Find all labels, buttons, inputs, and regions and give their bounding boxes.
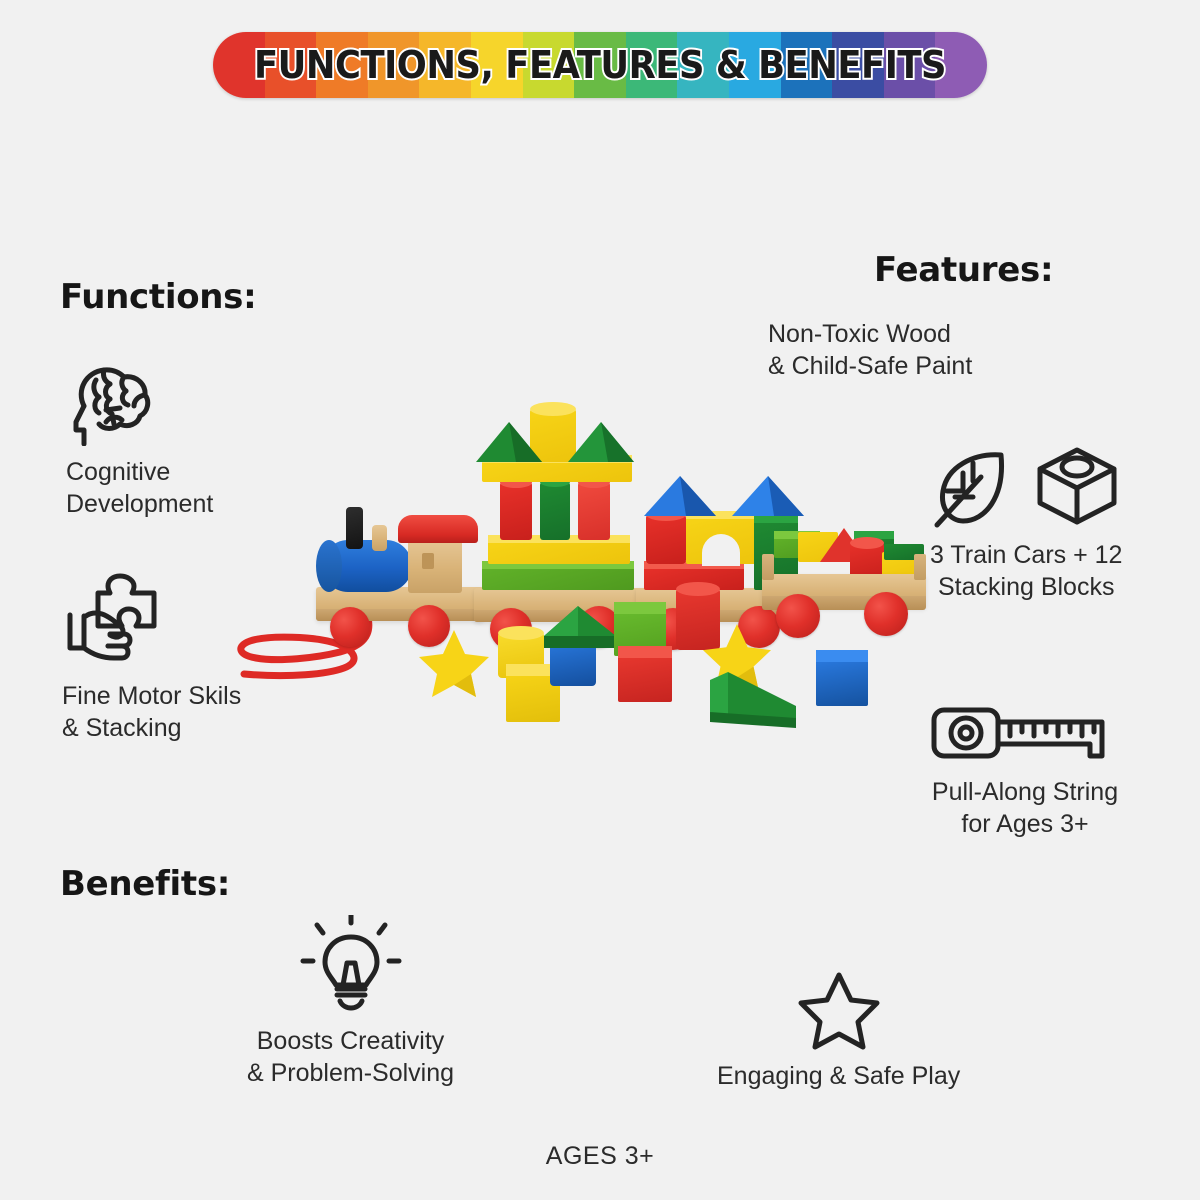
loose-block-red-cube-top: [618, 646, 672, 658]
page-title: FUNCTIONS, FEATURES & BENEFITS: [240, 32, 960, 98]
loose-block-yellow-star-1: [418, 628, 490, 698]
block-yellow-slab-upper: [482, 460, 632, 482]
block-red-column-right: [578, 482, 610, 540]
icon-group: [930, 700, 1120, 766]
feature-item-pull-along-string: Pull-Along String for Ages 3+: [930, 700, 1120, 840]
title-banner: FUNCTIONS, FEATURES & BENEFITS: [213, 32, 987, 98]
section-heading-benefits: Benefits:: [60, 864, 230, 904]
benefit-item-engaging-safe-play: Engaging & Safe Play: [717, 970, 960, 1092]
block-yellow-cylinder-top: [530, 402, 576, 416]
car4-wall-right: [914, 554, 926, 580]
ages-footer-label: AGES 3+: [0, 1142, 1200, 1171]
loco-wheel-front: [330, 607, 370, 647]
measuring-tape-icon: [930, 700, 1120, 766]
car4-wheel-front: [776, 594, 820, 638]
block-green-triangle-left: [476, 422, 542, 462]
feature-item-train-cars-blocks: 3 Train Cars + 12 Stacking Blocks: [930, 445, 1122, 603]
loose-block-yellow-cylinder-top: [498, 626, 544, 640]
block-yellow-arch-hole: [702, 534, 740, 566]
loose-block-red-cube: [618, 654, 672, 702]
block-green-slab: [482, 566, 634, 590]
section-heading-functions: Functions:: [60, 277, 256, 317]
icon-group: [798, 970, 880, 1050]
loco-smokestack: [346, 507, 363, 549]
loco-cab-window: [422, 553, 434, 569]
block-red-cylinder-left: [646, 514, 686, 564]
benefit-caption: Engaging & Safe Play: [717, 1060, 960, 1092]
loose-block-green-prism-1: [544, 606, 616, 652]
loco-roof: [398, 515, 478, 543]
section-heading-features: Features:: [874, 250, 1053, 290]
block-red-cylinder-cargo-top: [850, 537, 884, 549]
loose-block-blue-cube: [816, 658, 868, 706]
star-icon: [798, 970, 880, 1050]
loose-block-green-prism-2: [710, 672, 796, 728]
block-blue-triangle-left: [644, 476, 716, 516]
loco-boiler-front: [316, 540, 342, 592]
benefit-caption: Boosts Creativity & Problem-Solving: [247, 1025, 454, 1089]
block-green-triangle-right: [568, 422, 634, 462]
block-green-column-mid: [540, 482, 570, 540]
product-photo-wooden-train: [210, 410, 910, 730]
feature-caption: 3 Train Cars + 12 Stacking Blocks: [930, 539, 1122, 603]
loose-block-blue-cube-top: [816, 650, 868, 662]
feature-caption: Pull-Along String for Ages 3+: [932, 776, 1118, 840]
infographic-page: FUNCTIONS, FEATURES & BENEFITS Functions…: [0, 0, 1200, 1200]
leaf-icon: [933, 449, 1009, 529]
loose-block-red-cylinder-tall-top: [676, 582, 720, 596]
feature-item-non-toxic-wood: Non-Toxic Wood & Child-Safe Paint: [768, 318, 972, 382]
icon-group: [933, 445, 1119, 529]
car4-wall-left: [762, 554, 774, 580]
loco-dome: [372, 525, 387, 551]
feature-item-cognitive-development: Cognitive Development: [66, 360, 213, 520]
icon-group: [66, 360, 213, 446]
train-car-4-flatbed: [758, 520, 928, 650]
loco-cab: [408, 539, 462, 593]
brain-head-icon: [66, 360, 154, 446]
cube-icon: [1035, 445, 1119, 529]
lightbulb-icon: [295, 915, 407, 1015]
feature-caption: Cognitive Development: [66, 456, 213, 520]
loose-block-lightgreen-cube-top: [614, 602, 666, 614]
block-red-column-left: [500, 482, 532, 540]
car4-wheel-rear: [864, 592, 908, 636]
icon-group: [295, 915, 407, 1015]
hand-puzzle-icon: [62, 570, 166, 670]
feature-caption: Non-Toxic Wood & Child-Safe Paint: [768, 318, 972, 382]
block-yellow-slab-lower: [488, 540, 630, 564]
block-blue-triangle-right: [732, 476, 804, 516]
benefit-item-boosts-creativity: Boosts Creativity & Problem-Solving: [247, 915, 454, 1089]
